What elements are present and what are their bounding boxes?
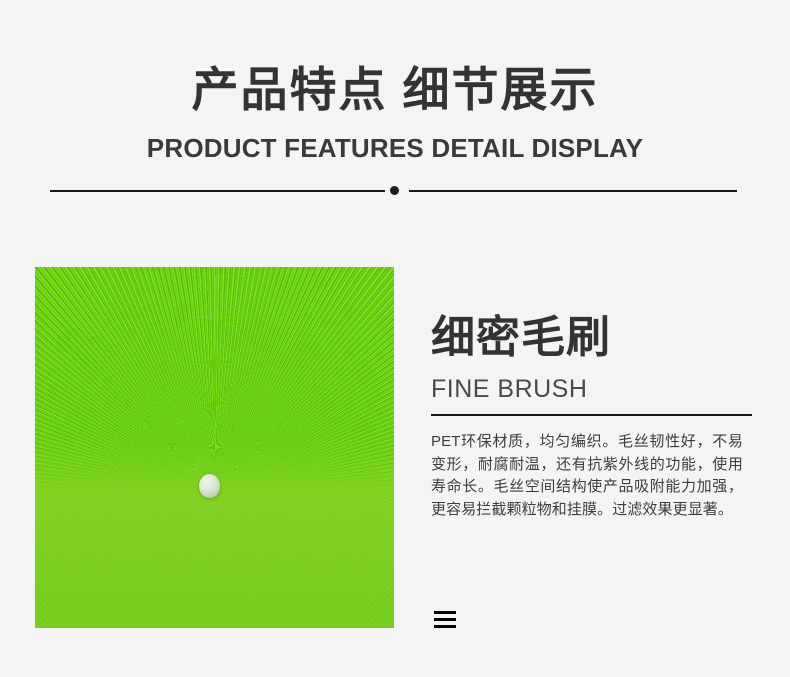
feature-subtitle: FINE BRUSH: [431, 373, 587, 405]
section-divider: [50, 186, 737, 195]
menu-bar-top: [434, 611, 456, 614]
divider-dot-icon: [390, 186, 399, 195]
page-subtitle: PRODUCT FEATURES DETAIL DISPLAY: [0, 132, 790, 164]
page-title: 产品特点 细节展示: [0, 62, 790, 118]
divider-line-right: [409, 190, 737, 192]
product-image: [35, 267, 394, 628]
menu-bar-bottom: [434, 625, 456, 628]
menu-bar-middle: [434, 618, 456, 621]
hamburger-menu-icon[interactable]: [434, 611, 456, 628]
brush-dense-body: [35, 433, 394, 628]
brush-center-hub: [199, 474, 220, 498]
feature-title: 细密毛刷: [431, 312, 611, 364]
feature-underline: [431, 414, 752, 416]
divider-line-left: [50, 190, 385, 192]
feature-description: PET环保材质，均匀编织。毛丝韧性好，不易变形，耐腐耐温，还有抗紫外线的功能，使…: [431, 431, 743, 521]
